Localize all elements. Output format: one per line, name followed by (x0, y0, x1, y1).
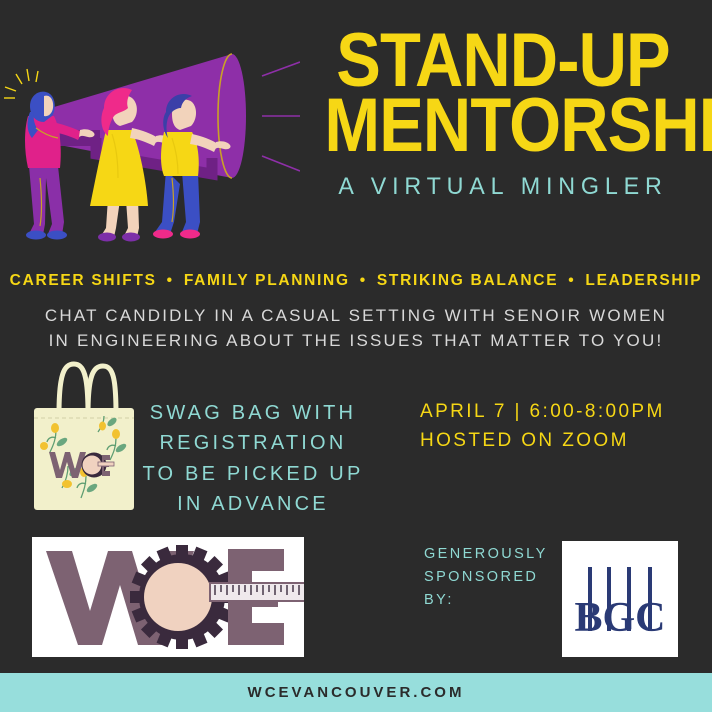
headline-block: STAND-UP MENTORSHIP A VIRTUAL MINGLER (300, 28, 706, 201)
megaphone-illustration (0, 38, 300, 263)
topic-separator: • (568, 272, 575, 289)
topic-item: STRIKING BALANCE (377, 272, 558, 289)
topic-item: FAMILY PLANNING (184, 272, 350, 289)
sponsor-label-line-1: GENEROUSLY (424, 543, 564, 566)
topic-separator: • (167, 272, 174, 289)
description-line-1: CHAT CANDIDLY IN A CASUAL SETTING WITH S… (0, 304, 712, 329)
swag-tote-bag-illustration (26, 356, 142, 518)
description-line-2: IN ENGINEERING ABOUT THE ISSUES THAT MAT… (0, 329, 712, 354)
swag-line-2: REGISTRATION (138, 428, 368, 458)
headline-line-2: MENTORSHIP (324, 93, 681, 158)
poster-canvas: STAND-UP MENTORSHIP A VIRTUAL MINGLER CA… (0, 0, 712, 712)
event-details: APRIL 7 | 6:00-8:00PM HOSTED ON ZOOM (420, 398, 710, 455)
megaphone (44, 54, 246, 178)
bgc-sponsor-logo: BGC (562, 541, 678, 657)
sponsor-label-line-2: SPONSORED BY: (424, 566, 564, 612)
sponsor-label: GENEROUSLY SPONSORED BY: (424, 543, 564, 613)
swag-line-1: SWAG BAG WITH (138, 398, 368, 428)
bgc-logo-text: BGC (574, 595, 665, 641)
headline-subtitle: A VIRTUAL MINGLER (306, 173, 700, 201)
topic-item: CAREER SHIFTS (10, 272, 157, 289)
sound-lines (262, 62, 300, 171)
wce-organization-logo (32, 537, 304, 657)
event-platform: HOSTED ON ZOOM (420, 427, 710, 456)
figure-woman-hijab (4, 69, 95, 240)
topic-item: LEADERSHIP (585, 272, 702, 289)
description-block: CHAT CANDIDLY IN A CASUAL SETTING WITH S… (0, 304, 712, 353)
ruler-icon (210, 583, 304, 601)
topic-separator: • (360, 272, 367, 289)
swag-info-text: SWAG BAG WITH REGISTRATION TO BE PICKED … (138, 398, 368, 520)
topics-list: CAREER SHIFTS • FAMILY PLANNING • STRIKI… (0, 272, 712, 290)
swag-line-4: IN ADVANCE (138, 489, 368, 519)
event-date-time: APRIL 7 | 6:00-8:00PM (420, 398, 710, 427)
footer-website-url[interactable]: WCEVANCOUVER.COM (248, 684, 465, 701)
footer-band: WCEVANCOUVER.COM (0, 673, 712, 712)
swag-line-3: TO BE PICKED UP (138, 459, 368, 489)
